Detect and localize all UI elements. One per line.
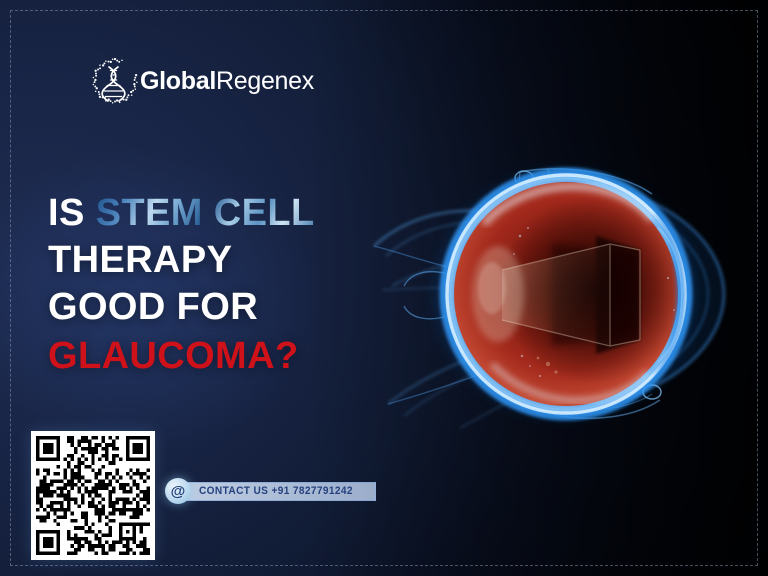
brand-name-light: Regenex [216,67,314,95]
dna-helix-circle-icon [92,58,138,104]
contact-text: CONTACT US +91 7827791242 [199,485,353,497]
headline-line-1-prefix: IS [48,192,96,234]
headline-line-2: THERAPY [48,239,378,282]
at-sign-icon: @ [165,478,191,504]
contact-pill[interactable]: CONTACT US +91 7827791242 [182,482,376,501]
human-eye-cross-section-illustration [352,128,756,458]
headline-line-4: GLAUCOMA? [48,335,378,378]
brand-wordmark: GlobalRegenex [140,69,314,94]
brand-name-bold: Global [140,67,216,95]
qr-code-image [36,436,150,555]
headline-line-1-accent: STEM CELL [96,192,315,234]
contact-badge[interactable]: @ CONTACT US +91 7827791242 [165,478,376,504]
qr-code[interactable] [31,431,155,560]
brand-logo: GlobalRegenex [92,55,314,107]
headline-line-3: GOOD FOR [48,286,378,329]
headline-line-1: IS STEM CELL [48,192,378,235]
headline-block: IS STEM CELL THERAPY GOOD FOR GLAUCOMA? [48,192,378,378]
poster-canvas: GlobalRegenex IS STEM CELL THERAPY GOOD … [0,0,768,576]
